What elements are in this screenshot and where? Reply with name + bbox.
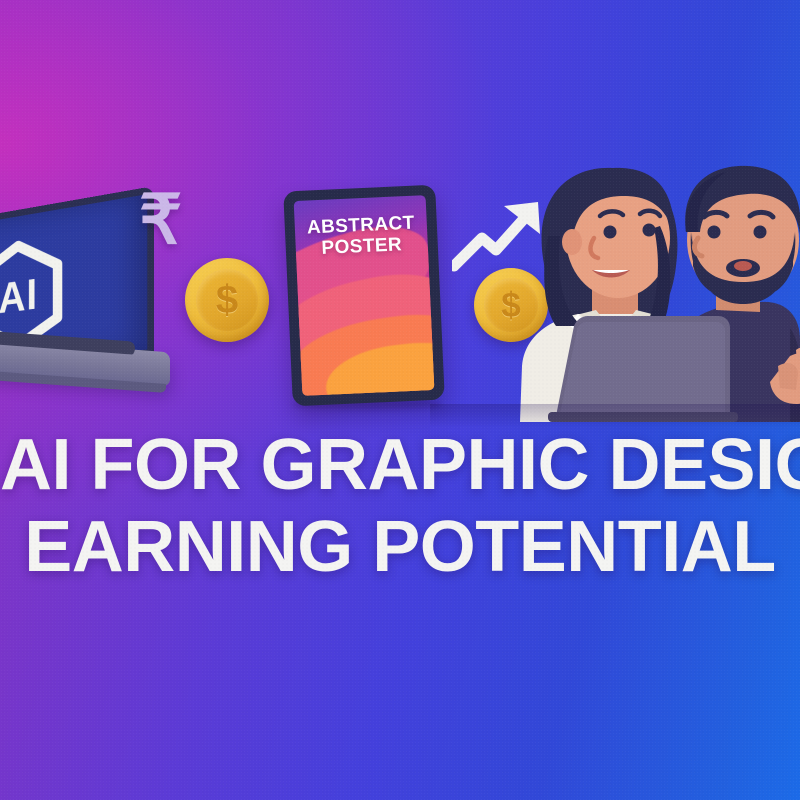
ai-graphic-design-banner: AI ₹ $ ABSTRACT POSTER bbox=[0, 0, 800, 800]
coin-dollar-symbol: $ bbox=[216, 280, 238, 320]
poster-title: ABSTRACT POSTER bbox=[294, 213, 428, 260]
rupee-currency-icon: ₹ bbox=[139, 186, 182, 254]
dollar-coin-icon: $ bbox=[185, 258, 269, 342]
poster-title-line2: POSTER bbox=[321, 234, 402, 259]
coin-face: $ bbox=[196, 269, 258, 331]
headline-line-1: AI FOR GRAPHIC DESIGN bbox=[0, 424, 800, 506]
headline-line-2: EARNING POTENTIAL bbox=[0, 506, 800, 588]
page-title: AI FOR GRAPHIC DESIGN EARNING POTENTIAL bbox=[0, 424, 800, 588]
tablet-abstract-poster: ABSTRACT POSTER bbox=[283, 185, 445, 407]
people-working-illustration bbox=[460, 160, 800, 422]
tablet-screen: ABSTRACT POSTER bbox=[294, 195, 435, 396]
illustration-scene: AI ₹ $ ABSTRACT POSTER bbox=[0, 0, 800, 430]
